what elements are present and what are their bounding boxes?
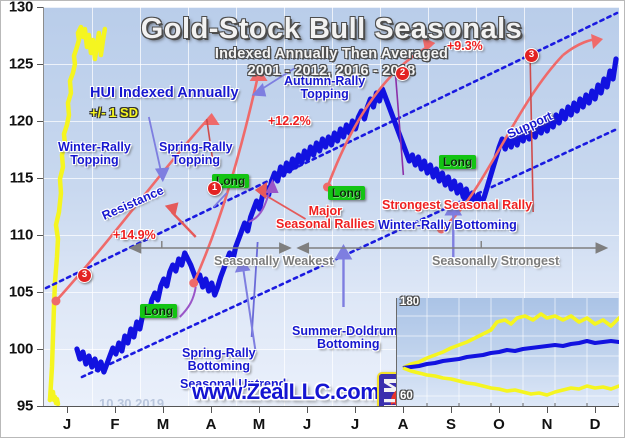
x-axis-tick-mark — [211, 406, 212, 413]
annotation-gain-2: +12.2% — [268, 115, 311, 128]
badge-long-4: Long — [439, 155, 476, 169]
marker-2: 2 — [395, 66, 410, 81]
x-axis-tick-label: M — [157, 416, 170, 433]
inset-top-label: 180 — [400, 296, 419, 308]
x-axis-tick-mark — [115, 406, 116, 413]
rally-arc-1-arrowhead — [202, 113, 220, 125]
rally-arc-4-arrowhead — [591, 34, 603, 49]
marker-3-right: 3 — [524, 48, 539, 63]
y-axis-tick-label: 120 — [9, 113, 33, 130]
annotation-seasonally-strongest: Seasonally Strongest — [432, 255, 559, 268]
x-axis-tick-label: A — [206, 416, 217, 433]
x-axis-tick-label: J — [351, 416, 359, 433]
badge-long-3: Long — [328, 186, 365, 200]
annotation-major-seasonal-rallies: Major Seasonal Rallies — [276, 205, 375, 231]
annotation-spring-rally-topping: Spring-Rally Topping — [159, 141, 233, 167]
y-axis-tick-label: 95 — [17, 398, 33, 415]
chart-subtitle-1: Indexed Annually Then Averaged — [215, 46, 448, 62]
x-axis-tick-label: J — [63, 416, 71, 433]
x-axis-tick-label: S — [446, 416, 456, 433]
x-axis-line — [43, 406, 619, 407]
y-axis-tick-label: 100 — [9, 341, 33, 358]
y-axis-tick-label: 130 — [9, 0, 33, 16]
annotation-summer-doldrums-bottoming: Summer-Doldrums Bottoming — [292, 325, 405, 351]
annotation-gain-3: +9.3% — [447, 40, 483, 53]
datestamp: 10.30.2019 — [99, 396, 164, 406]
annotation-spring-rally-bottoming: Spring-Rally Bottoming — [182, 347, 256, 373]
x-axis-tick-mark — [307, 406, 308, 413]
legend-sd-label: +/- 1 SD — [90, 105, 138, 120]
x-axis-tick-mark — [163, 406, 164, 413]
annotation-gain-1: +14.9% — [113, 229, 156, 242]
x-axis-tick-label: J — [303, 416, 311, 433]
x-axis: JFMAMJJASOND — [43, 406, 619, 439]
x-axis-tick-mark — [403, 406, 404, 413]
annotation-strongest-seasonal-rally: Strongest Seasonal Rally — [382, 199, 532, 212]
rally-arc-1-start-dot — [51, 297, 60, 306]
x-axis-tick-mark — [355, 406, 356, 413]
season-span-arrows — [130, 241, 607, 253]
gold-stock-bull-seasonals-chart: 95100105110115120125130 — [0, 0, 625, 438]
x-axis-tick-label: M — [253, 416, 266, 433]
annotation-autumn-rally-topping: Autumn-Rally Topping — [284, 75, 365, 101]
y-axis-tick-label: 115 — [10, 170, 33, 187]
marker-1: 1 — [207, 181, 222, 196]
y-axis: 95100105110115120125130 — [1, 1, 43, 412]
y-axis-tick-label: 105 — [9, 284, 33, 301]
rally-arc-2-start-dot — [189, 279, 198, 288]
x-axis-tick-label: D — [590, 416, 601, 433]
upper-sd-band — [50, 27, 105, 400]
inset-bottom-label: 60 — [400, 390, 413, 402]
annotation-winter-rally-bottoming: Winter-Rally Bottoming — [378, 219, 517, 232]
inset-chart: 180 60 — [396, 298, 619, 406]
x-axis-tick-label: F — [110, 416, 119, 433]
x-axis-tick-mark — [451, 406, 452, 413]
y-axis-tick-label: 110 — [10, 227, 33, 244]
marker-3-left: 3 — [77, 268, 92, 283]
x-axis-tick-label: A — [398, 416, 409, 433]
x-axis-tick-label: N — [542, 416, 553, 433]
x-axis-tick-mark — [595, 406, 596, 413]
y-axis-tick-label: 125 — [9, 56, 33, 73]
annotation-seasonally-weakest: Seasonally Weakest — [214, 255, 333, 268]
lower-sd-band — [50, 392, 58, 404]
x-axis-tick-mark — [547, 406, 548, 413]
badge-long-1: Long — [140, 304, 177, 318]
long-curve-arrow — [180, 287, 196, 317]
x-axis-tick-mark — [499, 406, 500, 413]
legend-hui-label: HUI Indexed Annually — [90, 85, 239, 101]
watermark-url[interactable]: www.ZealLLC.com — [192, 379, 379, 405]
plot-area: Gold-Stock Bull Seasonals Indexed Annual… — [43, 7, 619, 406]
annotation-winter-rally-topping: Winter-Rally Topping — [58, 141, 131, 167]
x-axis-tick-mark — [67, 406, 68, 413]
x-axis-tick-label: O — [493, 416, 505, 433]
inset-svg — [397, 298, 619, 406]
x-axis-tick-mark — [259, 406, 260, 413]
